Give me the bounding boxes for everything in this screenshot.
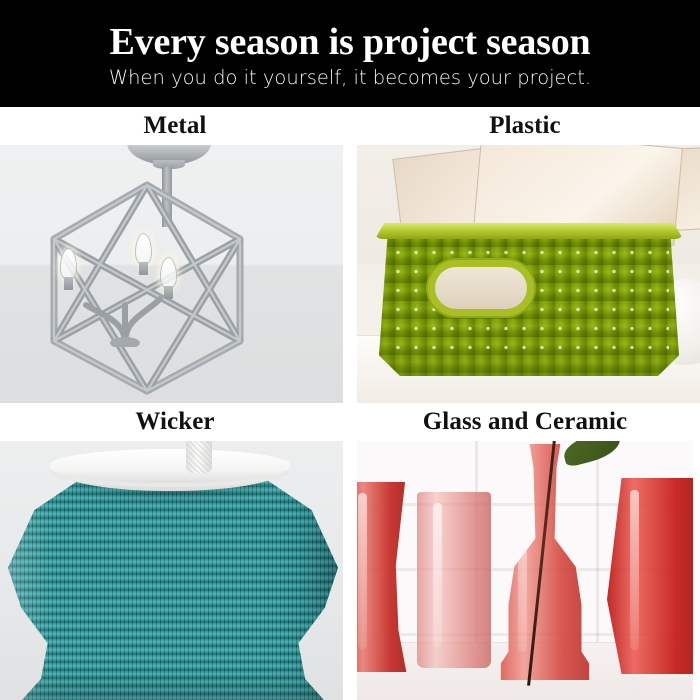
glass-highlight [358, 493, 367, 649]
red-glass-tapered-vase [607, 478, 693, 674]
glass-highlight [433, 503, 442, 647]
panel-label-metal: Metal [0, 107, 350, 145]
green-plastic-basket [379, 229, 679, 376]
infographic-poster: Every season is project season When you … [0, 0, 700, 700]
basket-handle-cutout [435, 267, 527, 309]
light-bulb [60, 248, 77, 280]
photo-wicker [0, 441, 343, 700]
banner-subtitle: When you do it yourself, it becomes your… [109, 65, 591, 91]
photo-metal [0, 145, 343, 403]
panel-wicker[interactable]: Wicker [0, 403, 350, 700]
panel-label-wicker: Wicker [0, 403, 350, 441]
panel-label-plastic: Plastic [350, 107, 700, 145]
panel-label-glass-and-ceramic: Glass and Ceramic [350, 403, 700, 441]
basket-rim [375, 223, 683, 239]
light-bulb [160, 257, 177, 289]
teal-wicker-side-table [8, 479, 338, 700]
photo-plastic [357, 145, 700, 403]
material-panel-grid: Metal [0, 107, 700, 700]
white-round-tabletop [50, 449, 290, 483]
pink-glass-cylinder-vase [417, 492, 491, 668]
header-banner: Every season is project season When you … [0, 0, 700, 107]
white-textured-vase [186, 441, 212, 473]
panel-glass-and-ceramic[interactable]: Glass and Ceramic [350, 403, 700, 700]
panel-plastic[interactable]: Plastic [350, 107, 700, 403]
glass-highlight [630, 490, 639, 651]
banner-title: Every season is project season [110, 20, 591, 64]
basket-weave-holes [389, 243, 669, 358]
light-bulb [135, 233, 152, 265]
panel-metal[interactable]: Metal [0, 107, 350, 403]
photo-glass-and-ceramic [357, 441, 693, 700]
